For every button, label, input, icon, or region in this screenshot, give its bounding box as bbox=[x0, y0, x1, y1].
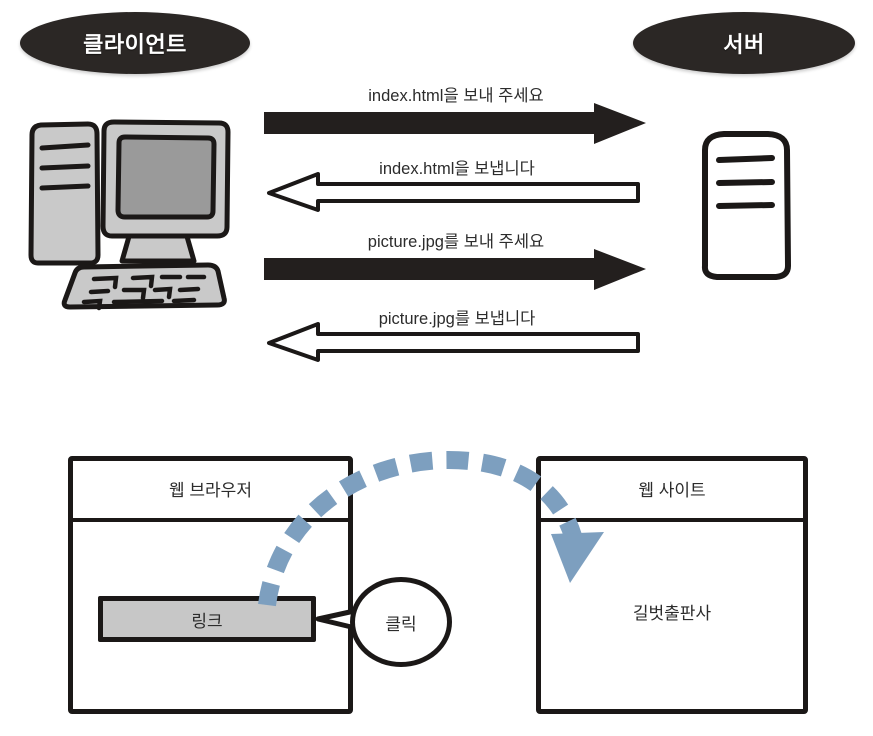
browser-window-title: 웹 브라우저 bbox=[73, 476, 348, 501]
message-arrow-1-right bbox=[264, 103, 646, 145]
click-callout-label: 클릭 bbox=[385, 610, 416, 635]
website-window-title: 웹 사이트 bbox=[541, 476, 803, 501]
message-arrow-3-right bbox=[264, 249, 646, 291]
click-callout: 클릭 bbox=[350, 577, 452, 667]
bottom-caption bbox=[8, 722, 428, 734]
link-bar-label: 링크 bbox=[191, 607, 222, 632]
server-pill-text: 서버 bbox=[723, 27, 764, 59]
desktop-computer-icon bbox=[12, 95, 244, 325]
website-window: 웹 사이트 길벗출판사 bbox=[536, 456, 808, 714]
browser-title-separator bbox=[72, 518, 349, 522]
client-pill-label: 클라이언트 bbox=[20, 12, 250, 74]
message-arrow-2-left bbox=[266, 172, 640, 212]
server-tower-icon bbox=[688, 126, 806, 286]
figure-canvas: 클라이언트 서버 bbox=[0, 0, 873, 736]
client-pill-text: 클라이언트 bbox=[83, 27, 187, 59]
server-pill-label: 서버 bbox=[633, 12, 855, 74]
website-title-separator bbox=[540, 518, 804, 522]
message-arrow-4-left bbox=[266, 322, 640, 362]
website-content-text: 길벗출판사 bbox=[541, 599, 803, 624]
browser-window: 웹 브라우저 bbox=[68, 456, 353, 714]
link-bar-button[interactable]: 링크 bbox=[98, 596, 316, 642]
